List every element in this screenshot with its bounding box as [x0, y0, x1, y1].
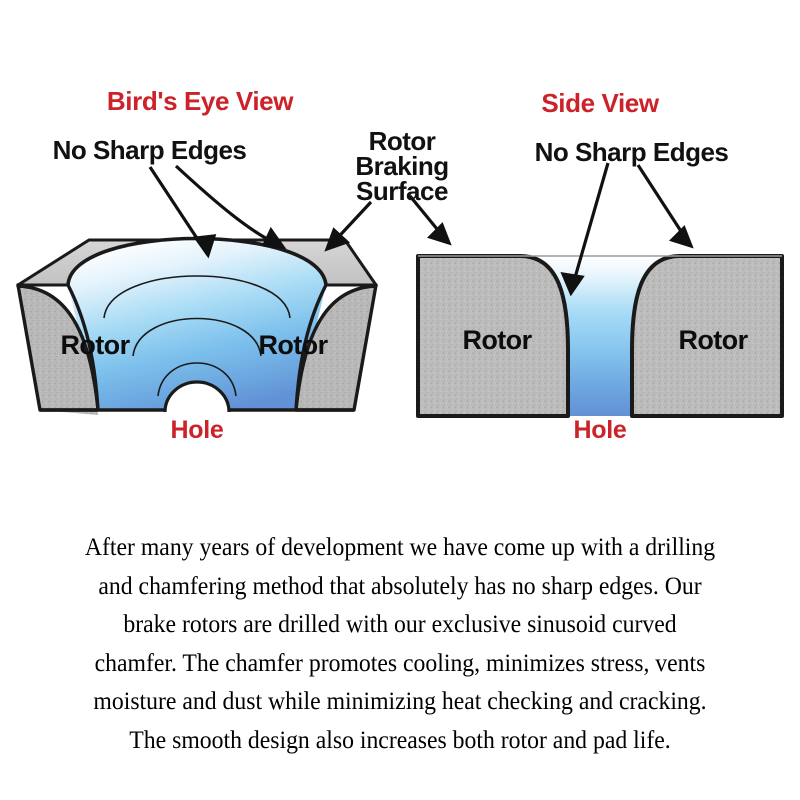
figure-page: Bird's Eye View No Sharp Edges Rotor Bra… — [0, 0, 800, 800]
paragraph-line: The smooth design also increases both ro… — [35, 721, 764, 760]
birds-eye-right-rotor-label: Rotor — [228, 330, 358, 361]
side-view-hole-label: Hole — [540, 418, 660, 444]
side-view-title: Side View — [430, 90, 770, 117]
paragraph-line: and chamfering method that absolutely ha… — [35, 567, 764, 606]
birds-eye-left-rotor-label: Rotor — [30, 330, 160, 361]
rotor-braking-surface-arrow-left — [327, 202, 371, 249]
side-view-left-rotor-label: Rotor — [432, 325, 562, 356]
paragraph-line: chamfer. The chamfer promotes cooling, m… — [35, 644, 764, 683]
side-view-right-rotor-label: Rotor — [648, 325, 778, 356]
birds-eye-view-title: Bird's Eye View — [0, 88, 400, 115]
birds-eye-hole-label: Hole — [137, 418, 257, 444]
paragraph-line: After many years of development we have … — [35, 528, 764, 567]
side-view-diagram — [400, 160, 800, 430]
description-paragraph: After many years of development we have … — [35, 528, 764, 759]
rotor-braking-surface-arrow-right — [410, 196, 449, 243]
paragraph-line: brake rotors are drilled with our exclus… — [35, 605, 764, 644]
birds-eye-view-diagram — [0, 160, 400, 430]
paragraph-line: moisture and dust while minimizing heat … — [35, 682, 764, 721]
